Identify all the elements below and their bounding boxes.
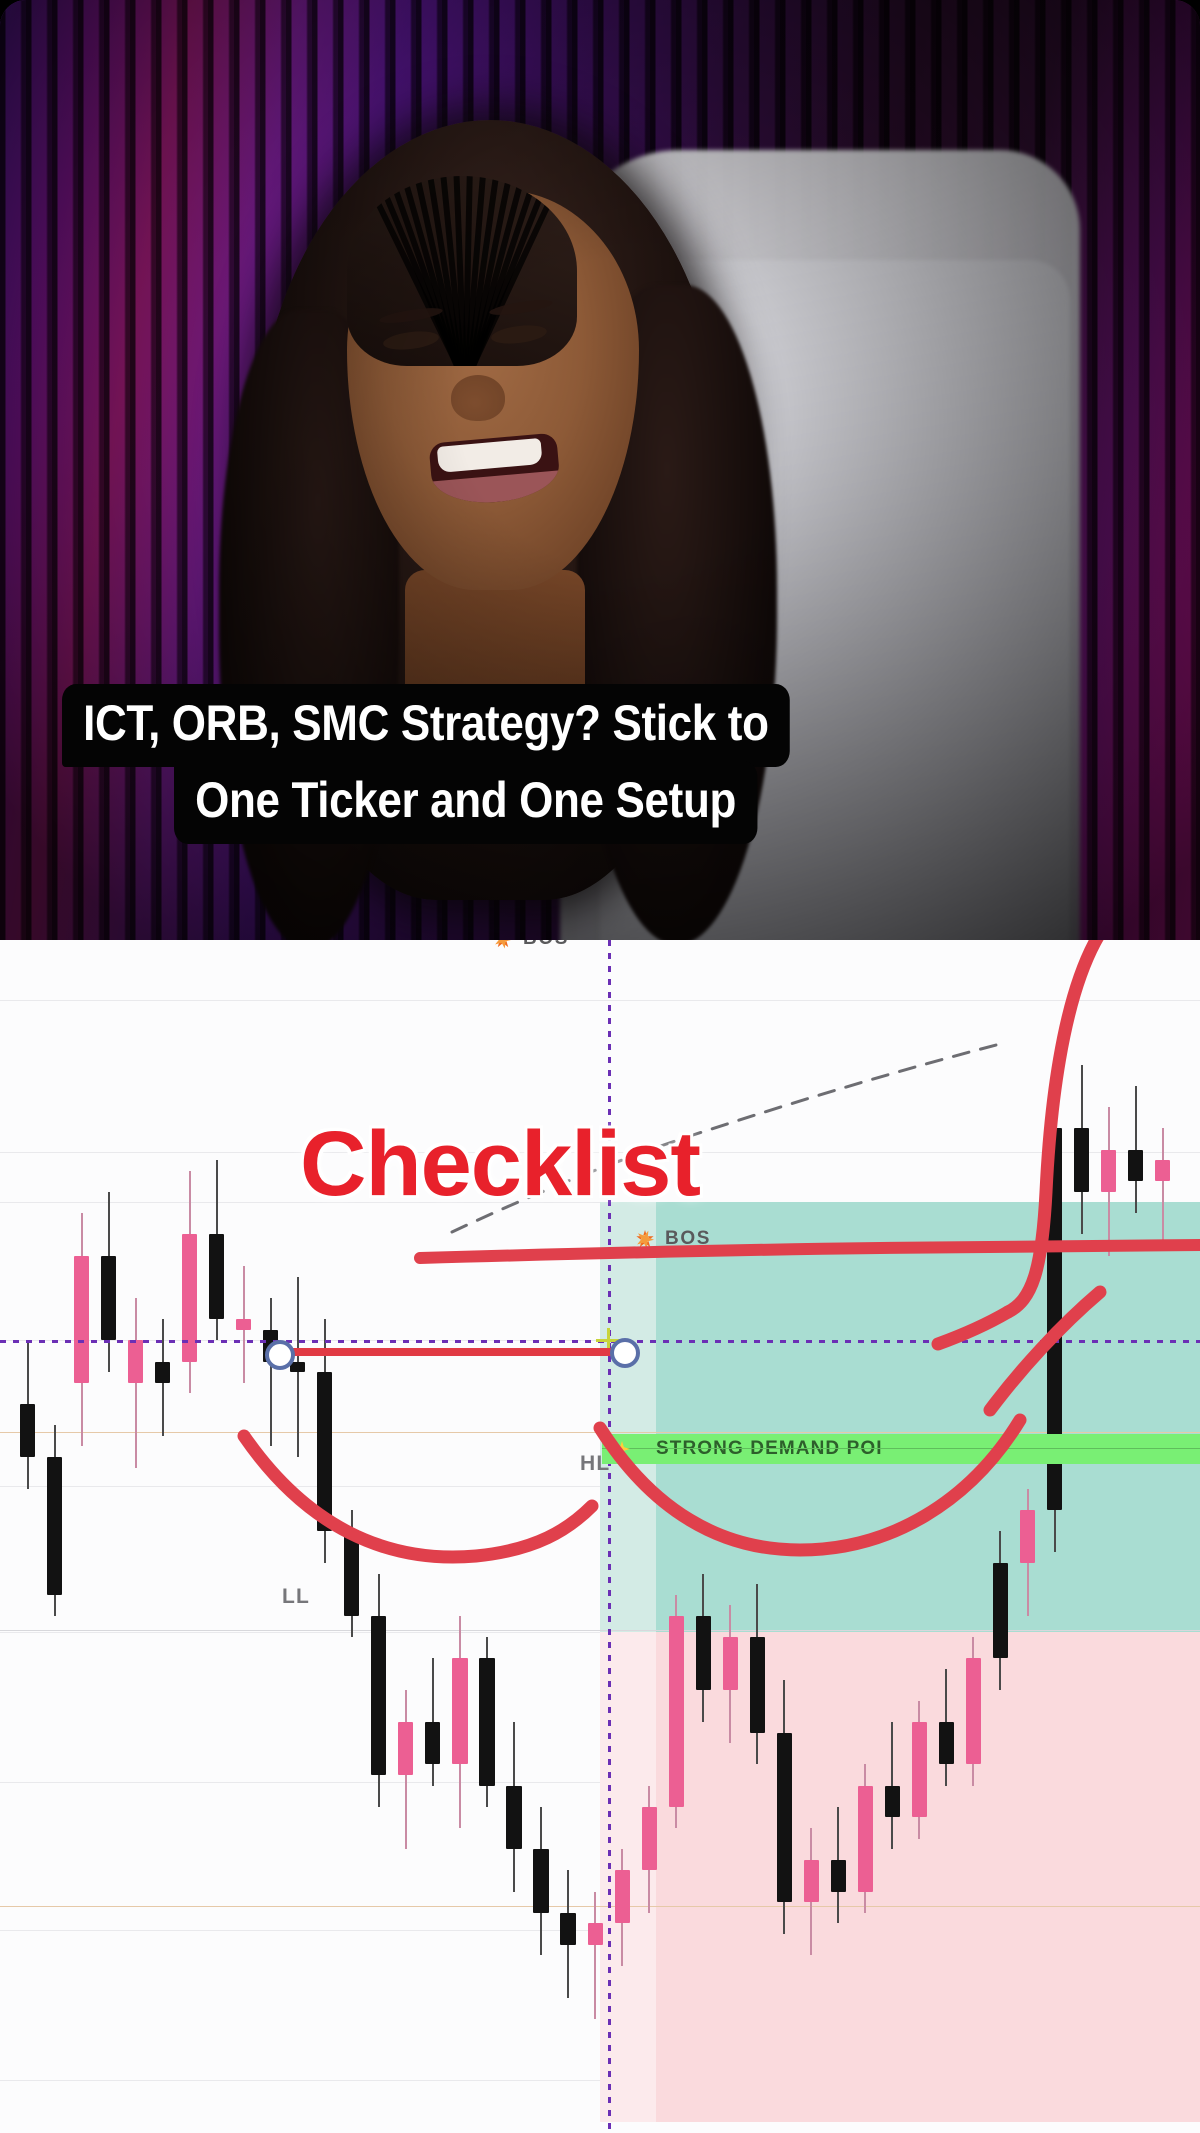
- bos-label-lower: BOS: [665, 1228, 711, 1250]
- candle-body: [642, 1807, 657, 1871]
- bos-marker-upper: BOS: [492, 940, 569, 950]
- video-chart-composite: ICT, ORB, SMC Strategy? Stick to One Tic…: [0, 0, 1200, 2133]
- candle-body: [696, 1616, 711, 1690]
- candle-body: [155, 1362, 170, 1383]
- candle-body: [344, 1531, 359, 1616]
- candle-body: [398, 1722, 413, 1775]
- caption-line-2: One Ticker and One Setup: [174, 761, 757, 844]
- candle-body: [831, 1860, 846, 1892]
- candle-body: [1155, 1160, 1170, 1181]
- candle-body: [615, 1870, 630, 1923]
- candle-body: [317, 1372, 332, 1531]
- candle-body: [723, 1637, 738, 1690]
- caption-overlay: ICT, ORB, SMC Strategy? Stick to One Tic…: [62, 684, 889, 844]
- candle-body: [1128, 1150, 1143, 1182]
- video-pane: ICT, ORB, SMC Strategy? Stick to One Tic…: [0, 0, 1200, 940]
- candle-body: [479, 1658, 494, 1785]
- candle-body: [47, 1457, 62, 1595]
- poi-centerline: [602, 1448, 1200, 1449]
- candle-body: [425, 1722, 440, 1764]
- candle-wick: [270, 1298, 272, 1446]
- diamond-icon: [614, 1441, 630, 1457]
- measure-line[interactable]: [272, 1348, 620, 1356]
- label-lower-low: LL: [282, 1585, 310, 1609]
- candle-body: [777, 1733, 792, 1903]
- checklist-annotation: Checklist: [300, 1112, 700, 1217]
- candle-body: [750, 1637, 765, 1732]
- candle-body: [533, 1849, 548, 1913]
- candle-body: [1074, 1128, 1089, 1192]
- caption-line-1: ICT, ORB, SMC Strategy? Stick to: [62, 684, 790, 767]
- candle-body: [804, 1860, 819, 1902]
- poi-label: STRONG DEMAND POI: [656, 1438, 883, 1460]
- candle-body: [858, 1786, 873, 1892]
- chart-pane[interactable]: BOS BOS LH HL LL STRONG DEMAND POI Check…: [0, 940, 1200, 2133]
- candle-body: [966, 1658, 981, 1764]
- candle-body: [912, 1722, 927, 1817]
- burst-icon: [492, 940, 514, 950]
- measure-handle-left[interactable]: [265, 1340, 295, 1370]
- candle-body: [236, 1319, 251, 1330]
- bos-label-upper: BOS: [523, 940, 569, 950]
- candle-body: [452, 1658, 467, 1764]
- candle-body: [993, 1563, 1008, 1658]
- candle-body: [669, 1616, 684, 1807]
- candle-body: [20, 1404, 35, 1457]
- candle-body: [371, 1616, 386, 1775]
- strong-demand-poi-band[interactable]: STRONG DEMAND POI: [602, 1434, 1200, 1464]
- candle-body: [588, 1923, 603, 1944]
- candle-body: [1020, 1510, 1035, 1563]
- candle-wick: [1162, 1128, 1164, 1245]
- measure-handle-right[interactable]: [610, 1338, 640, 1368]
- candle-body: [101, 1256, 116, 1341]
- candle-body: [74, 1256, 89, 1383]
- candle-body: [560, 1913, 575, 1945]
- candle-body: [885, 1786, 900, 1818]
- burst-icon: [634, 1228, 656, 1250]
- candle-body: [1101, 1150, 1116, 1192]
- candle-body: [128, 1340, 143, 1382]
- candle-body: [209, 1234, 224, 1319]
- candle-body: [939, 1722, 954, 1764]
- bos-marker-lower: BOS: [634, 1228, 711, 1250]
- candle-body: [506, 1786, 521, 1850]
- candle-wick: [594, 1892, 596, 2019]
- candle-wick: [135, 1298, 137, 1468]
